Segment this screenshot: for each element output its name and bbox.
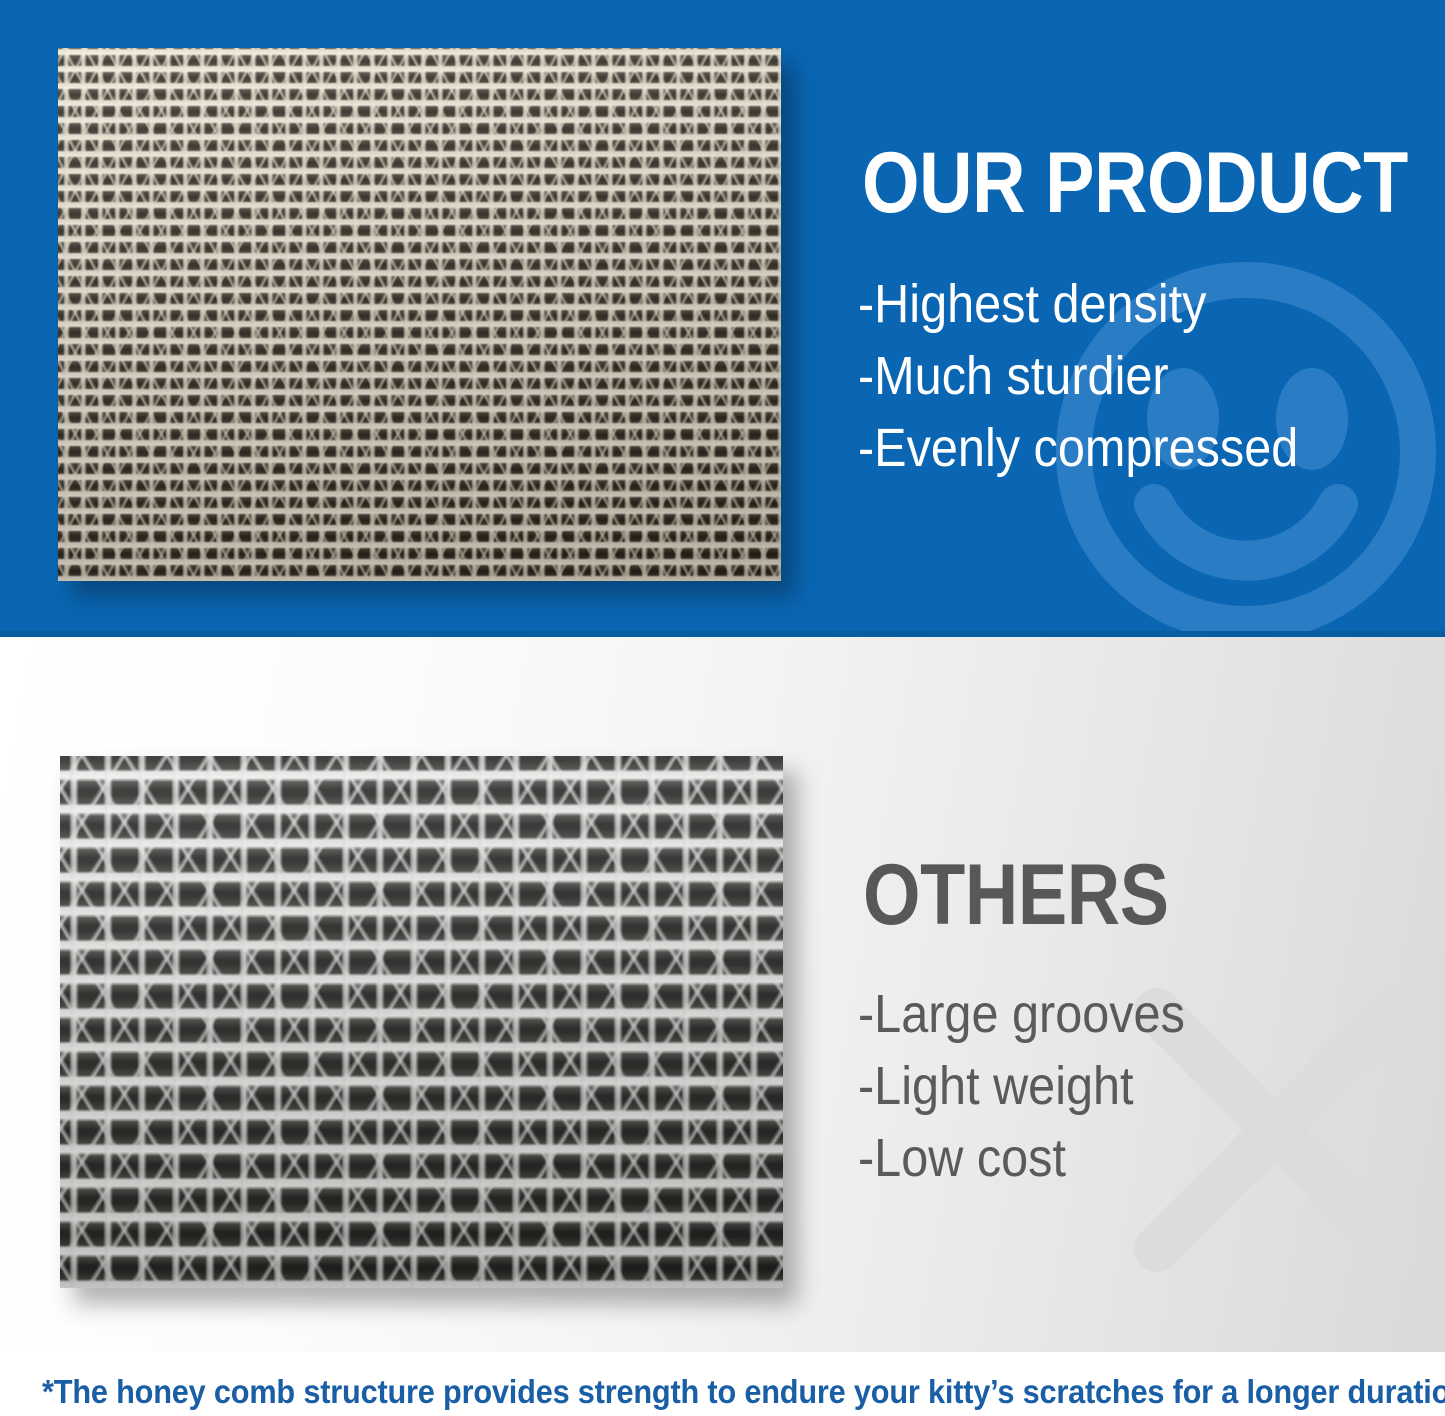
dense-corrugation-shading (58, 48, 781, 581)
others-panel: OTHERS -Large grooves -Light weight -Low… (0, 637, 1445, 1352)
footnote-text: *The honey comb structure provides stren… (42, 1373, 1445, 1411)
our-product-feature-list: -Highest density -Much sturdier -Evenly … (858, 268, 1298, 484)
list-item: -Large grooves (858, 978, 1185, 1050)
list-item: -Low cost (858, 1122, 1185, 1194)
open-corrugation-shading (60, 756, 783, 1288)
list-item: -Much sturdier (858, 340, 1298, 412)
our-product-cardboard-image (58, 48, 781, 581)
page-title-others: OTHERS (863, 852, 1169, 938)
list-item: -Evenly compressed (858, 412, 1298, 484)
others-feature-list: -Large grooves -Light weight -Low cost (858, 978, 1185, 1194)
our-product-panel: OUR PRODUCT -Highest density -Much sturd… (0, 0, 1445, 637)
others-cardboard-image (60, 756, 783, 1288)
list-item: -Highest density (858, 268, 1298, 340)
list-item: -Light weight (858, 1050, 1185, 1122)
page-title-our-product: OUR PRODUCT (862, 140, 1408, 226)
product-comparison-infographic: OUR PRODUCT -Highest density -Much sturd… (0, 0, 1445, 1416)
